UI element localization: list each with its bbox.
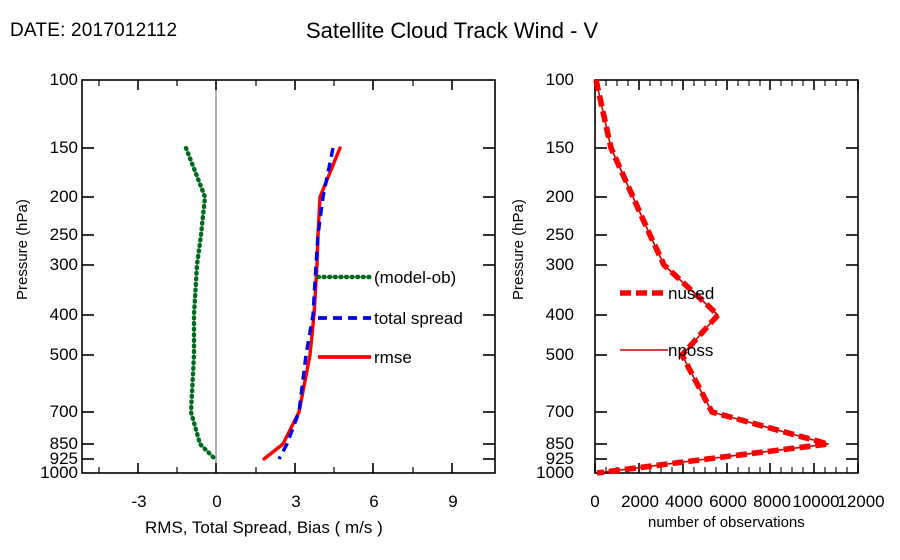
chart-page: DATE: 2017012112 Satellite Cloud Track W… xyxy=(0,0,900,560)
right-series-nused xyxy=(596,80,828,473)
legend-label-nused: nused xyxy=(668,284,714,304)
right-panel: Pressure (hPa) 100 150 200 250 300 400 5… xyxy=(0,0,900,560)
right-plot-svg xyxy=(0,0,900,560)
legend-label-nposs: nposs xyxy=(668,341,713,361)
